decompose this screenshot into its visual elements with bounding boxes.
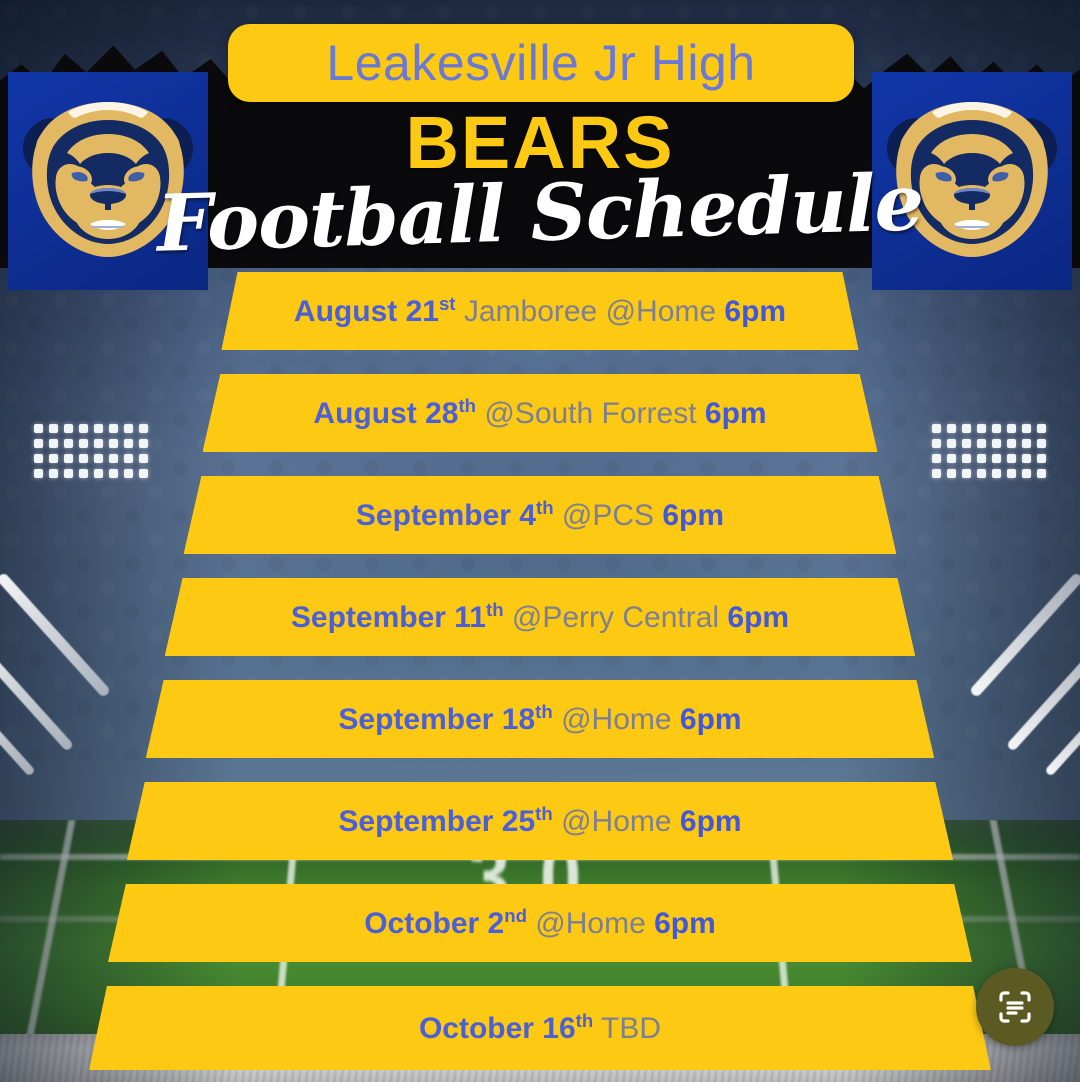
schedule-time: 6pm bbox=[680, 703, 742, 736]
schedule-opponent: @South Forrest bbox=[476, 397, 705, 430]
schedule-row-text: August 28th @South Forrest 6pm bbox=[313, 397, 766, 429]
schedule-date: August 21 bbox=[294, 295, 439, 328]
schedule-row-text: September 11th @Perry Central 6pm bbox=[291, 601, 789, 633]
schedule-ordinal: th bbox=[535, 803, 553, 824]
schedule-row: October 16th TBD bbox=[89, 986, 991, 1070]
schedule-date: September 4 bbox=[356, 499, 536, 532]
schedule-opponent: @Home bbox=[527, 907, 654, 940]
school-name-pill: Leakesville Jr High bbox=[228, 24, 854, 102]
schedule-list: August 21st Jamboree @Home 6pmAugust 28t… bbox=[0, 272, 1080, 1070]
schedule-opponent: @PCS bbox=[554, 499, 663, 532]
schedule-row: August 21st Jamboree @Home 6pm bbox=[221, 272, 858, 350]
schedule-date: September 18 bbox=[338, 703, 535, 736]
schedule-row: August 28th @South Forrest 6pm bbox=[203, 374, 878, 452]
schedule-row-text: September 4th @PCS 6pm bbox=[356, 499, 724, 531]
schedule-row: September 4th @PCS 6pm bbox=[184, 476, 897, 554]
schedule-row-text: October 2nd @Home 6pm bbox=[364, 907, 716, 939]
schedule-date: September 25 bbox=[338, 805, 535, 838]
schedule-ordinal: st bbox=[439, 293, 456, 314]
schedule-ordinal: th bbox=[536, 497, 554, 518]
schedule-row: September 25th @Home 6pm bbox=[127, 782, 953, 860]
schedule-row-text: September 25th @Home 6pm bbox=[338, 805, 741, 837]
schedule-opponent: @Home bbox=[553, 703, 680, 736]
schedule-opponent: Jamboree @Home bbox=[456, 295, 725, 328]
schedule-ordinal: th bbox=[486, 599, 504, 620]
schedule-date: October 16 bbox=[419, 1012, 576, 1045]
schedule-row-text: August 21st Jamboree @Home 6pm bbox=[294, 295, 786, 327]
schedule-ordinal: th bbox=[576, 1010, 594, 1031]
schedule-date: September 11 bbox=[291, 601, 486, 634]
schedule-opponent: @Perry Central bbox=[504, 601, 728, 634]
schedule-row-text: September 18th @Home 6pm bbox=[338, 703, 741, 735]
schedule-date: August 28 bbox=[313, 397, 458, 430]
schedule-opponent: @Home bbox=[553, 805, 680, 838]
schedule-ordinal: th bbox=[458, 395, 476, 416]
schedule-time: 6pm bbox=[724, 295, 786, 328]
schedule-opponent: TBD bbox=[593, 1012, 661, 1045]
schedule-time: 6pm bbox=[654, 907, 716, 940]
schedule-row-text: October 16th TBD bbox=[419, 1012, 661, 1044]
page-title: Leakesville Jr High bbox=[326, 34, 755, 92]
schedule-row: September 18th @Home 6pm bbox=[146, 680, 934, 758]
schedule-row: September 11th @Perry Central 6pm bbox=[165, 578, 916, 656]
schedule-ordinal: nd bbox=[504, 905, 527, 926]
schedule-time: 6pm bbox=[662, 499, 724, 532]
scan-text-button[interactable] bbox=[976, 968, 1054, 1046]
schedule-time: 6pm bbox=[680, 805, 742, 838]
football-schedule-poster: 30 bbox=[0, 0, 1080, 1082]
schedule-ordinal: th bbox=[535, 701, 553, 722]
schedule-row: October 2nd @Home 6pm bbox=[108, 884, 972, 962]
document-scan-icon bbox=[995, 987, 1035, 1027]
schedule-time: 6pm bbox=[727, 601, 789, 634]
schedule-date: October 2 bbox=[364, 907, 504, 940]
schedule-time: 6pm bbox=[705, 397, 767, 430]
